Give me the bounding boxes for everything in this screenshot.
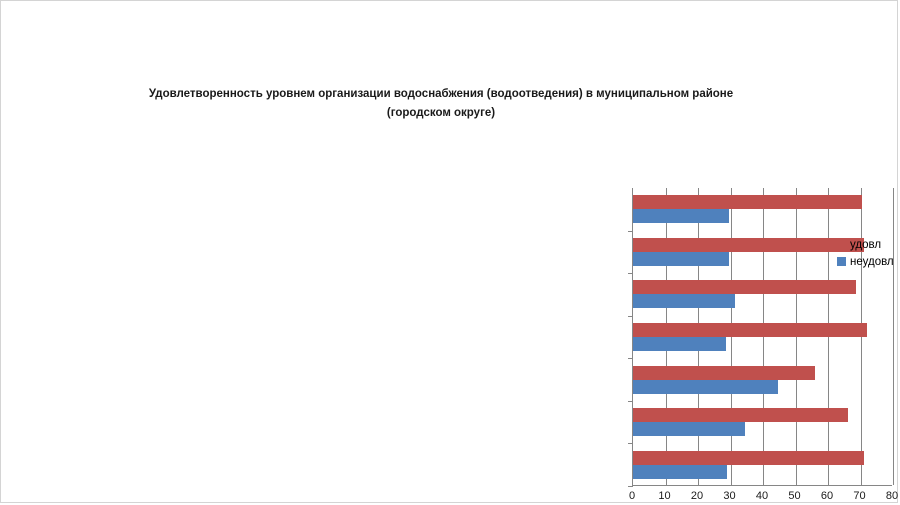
- chart-legend: удовл неудовл: [837, 237, 894, 271]
- bar-unsatisfied[interactable]: [633, 294, 735, 308]
- category-tick: [628, 486, 633, 487]
- tick-label: 80: [877, 490, 900, 502]
- tick-label: 0: [617, 490, 647, 502]
- legend-label-unsatisfied: неудовл: [850, 256, 894, 268]
- bar-unsatisfied[interactable]: [633, 252, 729, 266]
- chart-title: Удовлетворенность уровнем организации во…: [91, 85, 791, 123]
- category-tick: [628, 443, 633, 444]
- gridline: [893, 188, 894, 485]
- plot-area: [632, 188, 892, 486]
- category-tick: [628, 231, 633, 232]
- bar-satisfied[interactable]: [633, 408, 848, 422]
- category-tick: [628, 401, 633, 402]
- bar-satisfied[interactable]: [633, 280, 856, 294]
- tick-label: 20: [682, 490, 712, 502]
- bar-unsatisfied[interactable]: [633, 465, 727, 479]
- bar-satisfied[interactable]: [633, 451, 864, 465]
- bar-unsatisfied[interactable]: [633, 209, 729, 223]
- bar-unsatisfied[interactable]: [633, 337, 726, 351]
- category-tick: [628, 273, 633, 274]
- legend-label-satisfied: удовл: [850, 239, 881, 251]
- tick-label: 60: [812, 490, 842, 502]
- legend-swatch-unsatisfied-icon: [837, 257, 846, 266]
- tick-label: 40: [747, 490, 777, 502]
- bar-satisfied[interactable]: [633, 195, 862, 209]
- bar-unsatisfied[interactable]: [633, 422, 745, 436]
- chart-title-line-2: (городском округе): [91, 104, 791, 123]
- chart-container: Удовлетворенность уровнем организации во…: [0, 0, 898, 503]
- legend-swatch-satisfied-icon: [837, 240, 846, 249]
- chart-title-line-1: Удовлетворенность уровнем организации во…: [91, 85, 791, 104]
- tick-label: 50: [780, 490, 810, 502]
- legend-item-satisfied[interactable]: удовл: [837, 237, 894, 254]
- bar-satisfied[interactable]: [633, 238, 864, 252]
- bar-satisfied[interactable]: [633, 366, 815, 380]
- category-tick: [628, 358, 633, 359]
- tick-label: 70: [845, 490, 875, 502]
- legend-item-unsatisfied[interactable]: неудовл: [837, 254, 894, 271]
- bar-satisfied[interactable]: [633, 323, 867, 337]
- tick-label: 10: [650, 490, 680, 502]
- category-tick: [628, 316, 633, 317]
- bar-unsatisfied[interactable]: [633, 380, 778, 394]
- tick-label: 30: [715, 490, 745, 502]
